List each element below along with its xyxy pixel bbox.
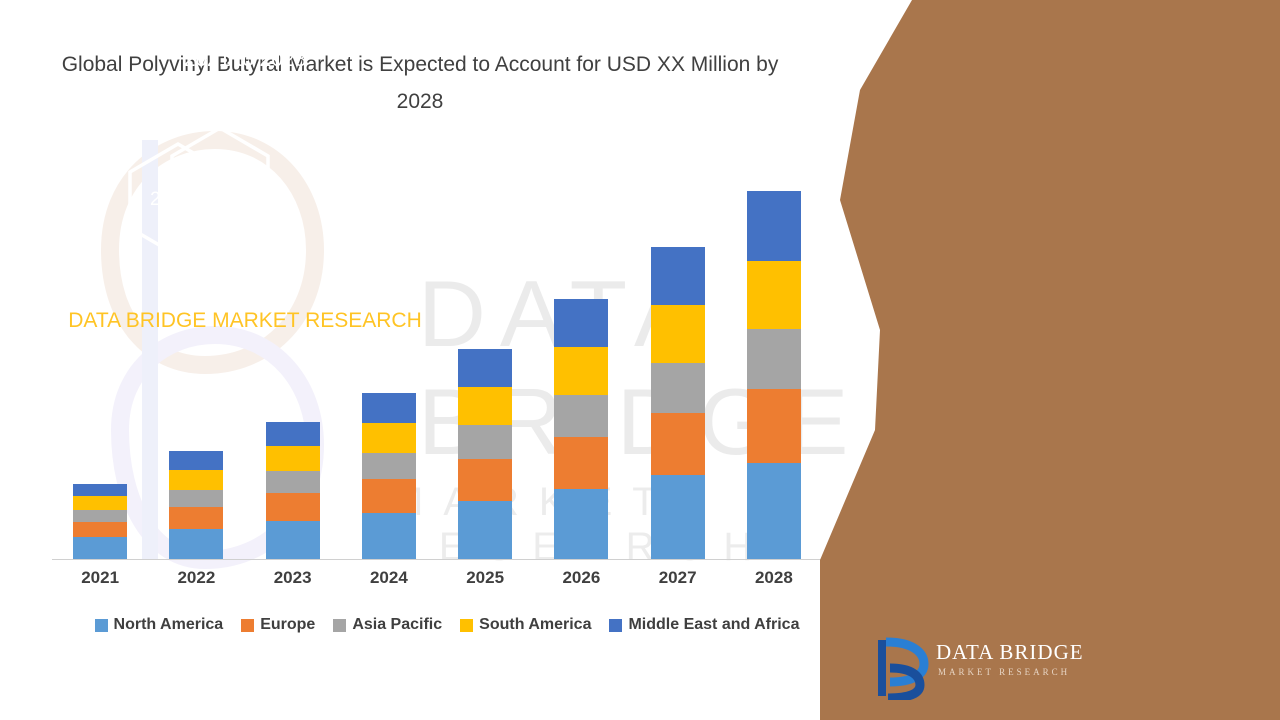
bar-segment <box>747 261 801 329</box>
bar-segment <box>458 425 512 459</box>
logo-subtitle: MARKET RESEARCH <box>938 667 1070 677</box>
bar-segment <box>747 329 801 389</box>
bar-segment <box>554 347 608 395</box>
bar-segment <box>266 471 320 493</box>
hex-right-label: 2021 <box>194 173 236 195</box>
legend-item[interactable]: South America <box>460 616 591 634</box>
bar-segment <box>266 521 320 559</box>
x-tick-label: 2024 <box>341 568 437 588</box>
legend-item[interactable]: Middle East and Africa <box>609 616 799 634</box>
bar-segment <box>362 513 416 559</box>
bar-segment <box>73 537 127 559</box>
bar-segment <box>651 363 705 413</box>
x-tick-label: 2022 <box>148 568 244 588</box>
slide-canvas: DATA BRIDGE MARKET RESEARCH Global Polyv… <box>0 0 1280 720</box>
bar-group <box>651 247 705 559</box>
bar-segment <box>169 451 223 470</box>
legend-label: Europe <box>260 616 315 634</box>
bar-segment <box>73 510 127 522</box>
x-tick-label: 2023 <box>245 568 341 588</box>
bar-group <box>458 349 512 559</box>
bar-segment <box>362 453 416 479</box>
bar-segment <box>362 423 416 453</box>
legend-label: Asia Pacific <box>352 616 442 634</box>
legend-swatch-icon <box>460 619 473 632</box>
legend-swatch-icon <box>609 619 622 632</box>
x-tick-label: 2026 <box>533 568 629 588</box>
bar-segment <box>362 393 416 423</box>
bar-group <box>362 393 416 559</box>
bar-segment <box>362 479 416 513</box>
bar-segment <box>747 389 801 463</box>
x-tick-label: 2025 <box>437 568 533 588</box>
hexagon-badges: 2021 2028 <box>128 126 328 256</box>
logo-name: DATA BRIDGE <box>936 640 1084 665</box>
hex-left-label: 2028 <box>150 189 192 211</box>
legend-swatch-icon <box>333 619 346 632</box>
bar-group <box>73 484 127 559</box>
x-axis-line <box>52 559 822 560</box>
legend-item[interactable]: Asia Pacific <box>333 616 442 634</box>
brand-name: DATA BRIDGE MARKET RESEARCH <box>0 305 460 336</box>
company-logo: DATA BRIDGE MARKET RESEARCH <box>876 636 1116 706</box>
bar-segment <box>554 489 608 559</box>
bar-group <box>169 451 223 559</box>
legend-label: North America <box>114 616 224 634</box>
legend-label: Middle East and Africa <box>628 616 799 634</box>
bar-segment <box>458 501 512 559</box>
bar-segment <box>458 459 512 501</box>
x-tick-label: 2021 <box>52 568 148 588</box>
bar-segment <box>458 387 512 425</box>
legend-swatch-icon <box>241 619 254 632</box>
legend-swatch-icon <box>95 619 108 632</box>
bar-segment <box>458 349 512 387</box>
chart-legend: North AmericaEuropeAsia PacificSouth Ame… <box>52 616 842 634</box>
bar-segment <box>266 493 320 521</box>
bar-segment <box>169 490 223 507</box>
right-panel-title: Global Polyvinyl Butyral Market, By Regi… <box>0 12 460 76</box>
bar-segment <box>266 446 320 471</box>
bar-segment <box>73 484 127 496</box>
legend-label: South America <box>479 616 591 634</box>
bar-group <box>554 299 608 559</box>
bar-segment <box>554 437 608 489</box>
bar-group <box>747 191 801 559</box>
bar-segment <box>651 305 705 363</box>
bar-segment <box>747 191 801 261</box>
bar-segment <box>554 395 608 437</box>
x-tick-label: 2027 <box>630 568 726 588</box>
bar-segment <box>651 247 705 305</box>
bar-segment <box>266 422 320 446</box>
bar-segment <box>554 299 608 347</box>
bar-segment <box>73 522 127 537</box>
bar-segment <box>73 496 127 510</box>
legend-item[interactable]: Europe <box>241 616 315 634</box>
bar-segment <box>651 475 705 559</box>
bar-segment <box>747 463 801 559</box>
x-tick-label: 2028 <box>726 568 822 588</box>
db-logo-icon <box>876 636 932 700</box>
bar-segment <box>169 529 223 559</box>
legend-item[interactable]: North America <box>95 616 224 634</box>
bar-segment <box>651 413 705 475</box>
bar-segment <box>169 470 223 490</box>
bar-segment <box>169 507 223 529</box>
right-info-panel <box>820 0 1280 720</box>
bar-group <box>266 422 320 559</box>
